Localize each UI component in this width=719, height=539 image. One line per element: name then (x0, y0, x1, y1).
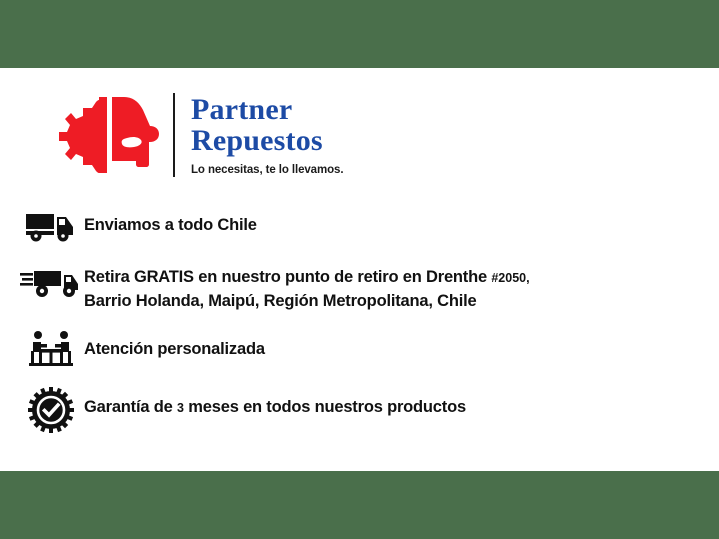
promo-banner: Partner Repuestos Lo necesitas, te lo ll… (0, 0, 719, 539)
feature-row-support: Atención personalizada (18, 330, 688, 370)
warranty-months-number: 3 (177, 401, 184, 415)
feature-label-warranty: Garantía de 3 meses en todos nuestros pr… (84, 387, 466, 420)
people-at-table-icon (18, 330, 84, 370)
feature-label-support: Atención personalizada (84, 330, 265, 361)
feature-row-warranty: Garantía de 3 meses en todos nuestros pr… (18, 387, 688, 433)
pickup-text-second-line: Barrio Holanda, Maipú, Región Metropolit… (84, 292, 476, 310)
feature-label-shipping: Enviamos a todo Chile (84, 206, 257, 237)
bottom-green-band (0, 471, 719, 539)
brand-logo-block: Partner Repuestos Lo necesitas, te lo ll… (55, 92, 343, 178)
warranty-text-before: Garantía de (84, 398, 177, 416)
top-green-band (0, 0, 719, 68)
logo-text-block: Partner Repuestos Lo necesitas, te lo ll… (191, 94, 343, 176)
warranty-text-after: meses en todos nuestros productos (184, 398, 466, 416)
feature-row-shipping: Enviamos a todo Chile (18, 206, 688, 242)
brand-tagline: Lo necesitas, te lo llevamos. (191, 164, 343, 176)
feature-list: Enviamos a todo Chile (18, 206, 688, 453)
moving-truck-icon (18, 262, 84, 299)
brand-name-line-2: Repuestos (191, 125, 343, 156)
delivery-truck-icon (18, 206, 84, 242)
pickup-text-main: Retira GRATIS en nuestro punto de retiro… (84, 268, 491, 286)
logo-divider (173, 93, 175, 177)
gear-car-logo-icon (55, 92, 167, 178)
brand-name-line-1: Partner (191, 94, 343, 125)
guarantee-badge-icon (18, 387, 84, 433)
feature-label-pickup: Retira GRATIS en nuestro punto de retiro… (84, 262, 530, 313)
pickup-street-number: #2050, (491, 271, 529, 285)
feature-row-pickup: Retira GRATIS en nuestro punto de retiro… (18, 262, 688, 313)
